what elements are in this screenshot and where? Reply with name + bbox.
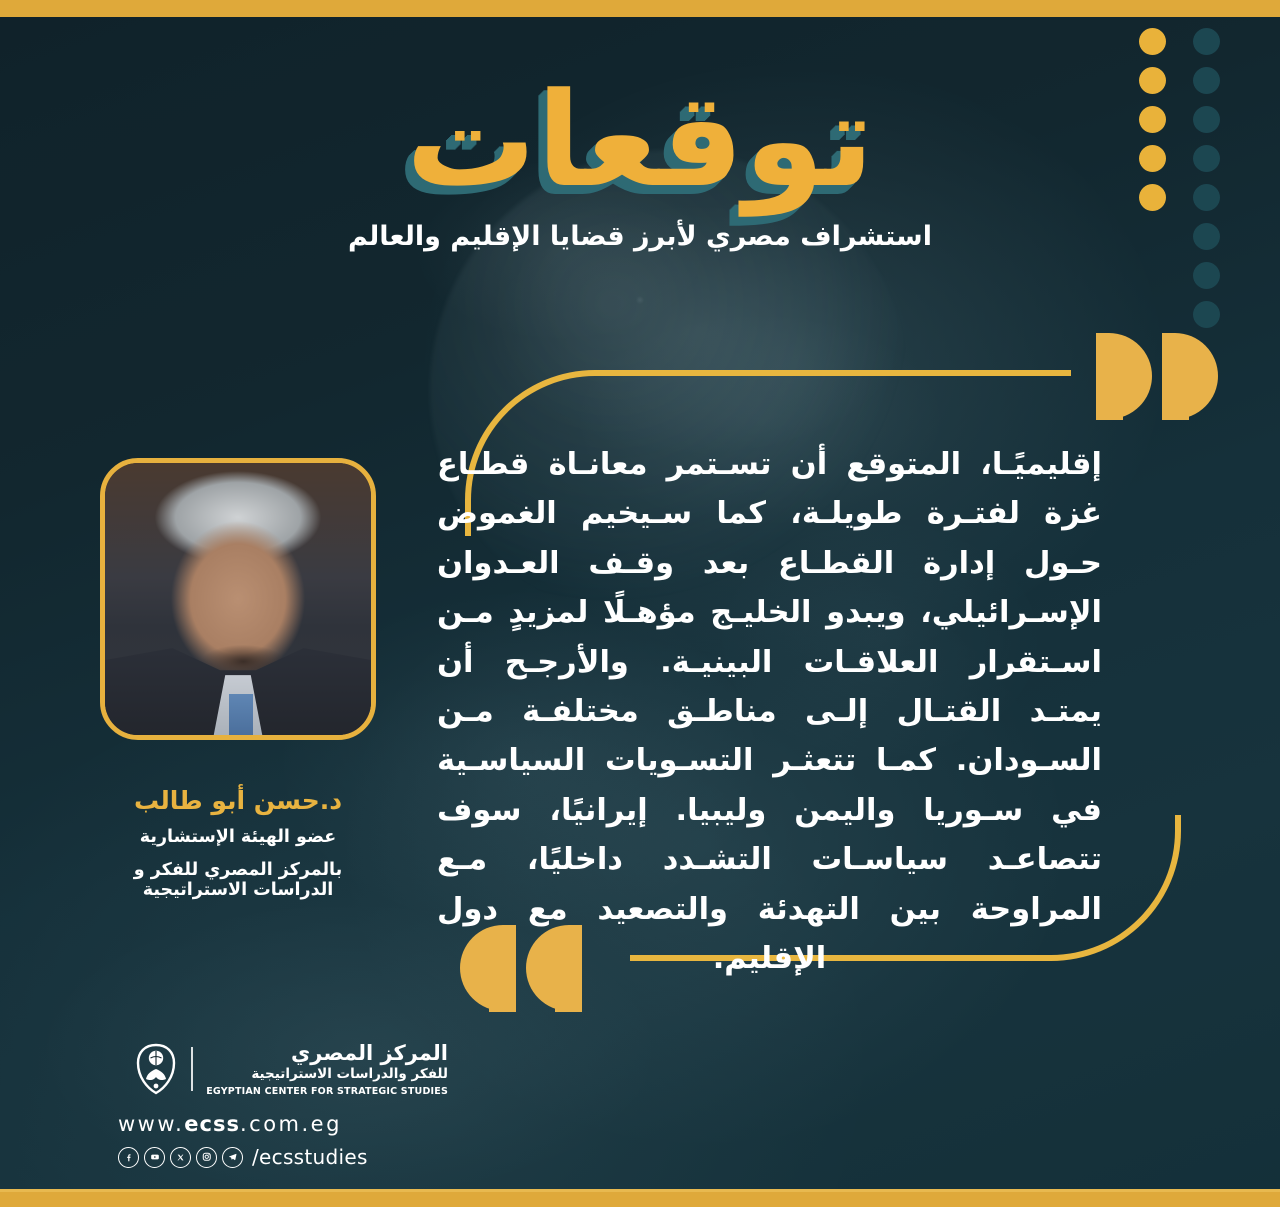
x-icon[interactable] <box>170 1147 191 1168</box>
brand-arabic-line-1: المركز المصري <box>206 1041 448 1065</box>
youtube-icon[interactable] <box>144 1147 165 1168</box>
brand-english-name: EGYPTIAN CENTER FOR STRATEGIC STUDIES <box>206 1086 448 1097</box>
teal-dot <box>1193 28 1220 55</box>
author-details: د.حسن أبو طالب عضو الهيئة الإستشارية بال… <box>100 786 376 900</box>
poster-canvas: توقعات استشراف مصري لأبرز قضايا الإقليم … <box>0 0 1280 1207</box>
gold-dot <box>1139 28 1166 55</box>
teal-dot <box>1193 262 1220 289</box>
facebook-icon[interactable] <box>118 1147 139 1168</box>
author-role: عضو الهيئة الإستشارية <box>100 827 376 847</box>
author-portrait <box>100 458 376 740</box>
ecss-logo-icon <box>134 1043 178 1095</box>
closing-quote-icon <box>1096 333 1218 419</box>
bottom-gold-bar <box>0 1192 1280 1207</box>
top-gold-bar <box>0 0 1280 17</box>
social-handle[interactable]: /ecsstudies <box>252 1145 368 1169</box>
avatar-tie <box>229 694 253 735</box>
opening-quote-icon <box>460 925 582 1011</box>
page-title: توقعات <box>0 72 1280 209</box>
author-block: د.حسن أبو طالب عضو الهيئة الإستشارية بال… <box>100 458 376 900</box>
social-links[interactable]: /ecsstudies <box>118 1145 448 1169</box>
page-subtitle: استشراف مصري لأبرز قضايا الإقليم والعالم <box>0 221 1280 252</box>
poster-header: توقعات استشراف مصري لأبرز قضايا الإقليم … <box>0 72 1280 252</box>
telegram-icon[interactable] <box>222 1147 243 1168</box>
website-url[interactable]: www.ecss.com.eg <box>118 1112 448 1136</box>
teal-dot <box>1193 301 1220 328</box>
brand-divider <box>191 1047 193 1091</box>
instagram-icon[interactable] <box>196 1147 217 1168</box>
author-organization: بالمركز المصري للفكر و الدراسات الاسترات… <box>100 860 376 900</box>
author-name: د.حسن أبو طالب <box>100 786 376 815</box>
quote-text: إقليميًـا، المتوقع أن تسـتمر معانـاة قطـ… <box>437 440 1102 983</box>
brand-arabic-line-2: للفكر والدراسات الاستراتيجية <box>206 1067 448 1083</box>
brand-footer: المركز المصري للفكر والدراسات الاستراتيج… <box>118 1041 448 1169</box>
